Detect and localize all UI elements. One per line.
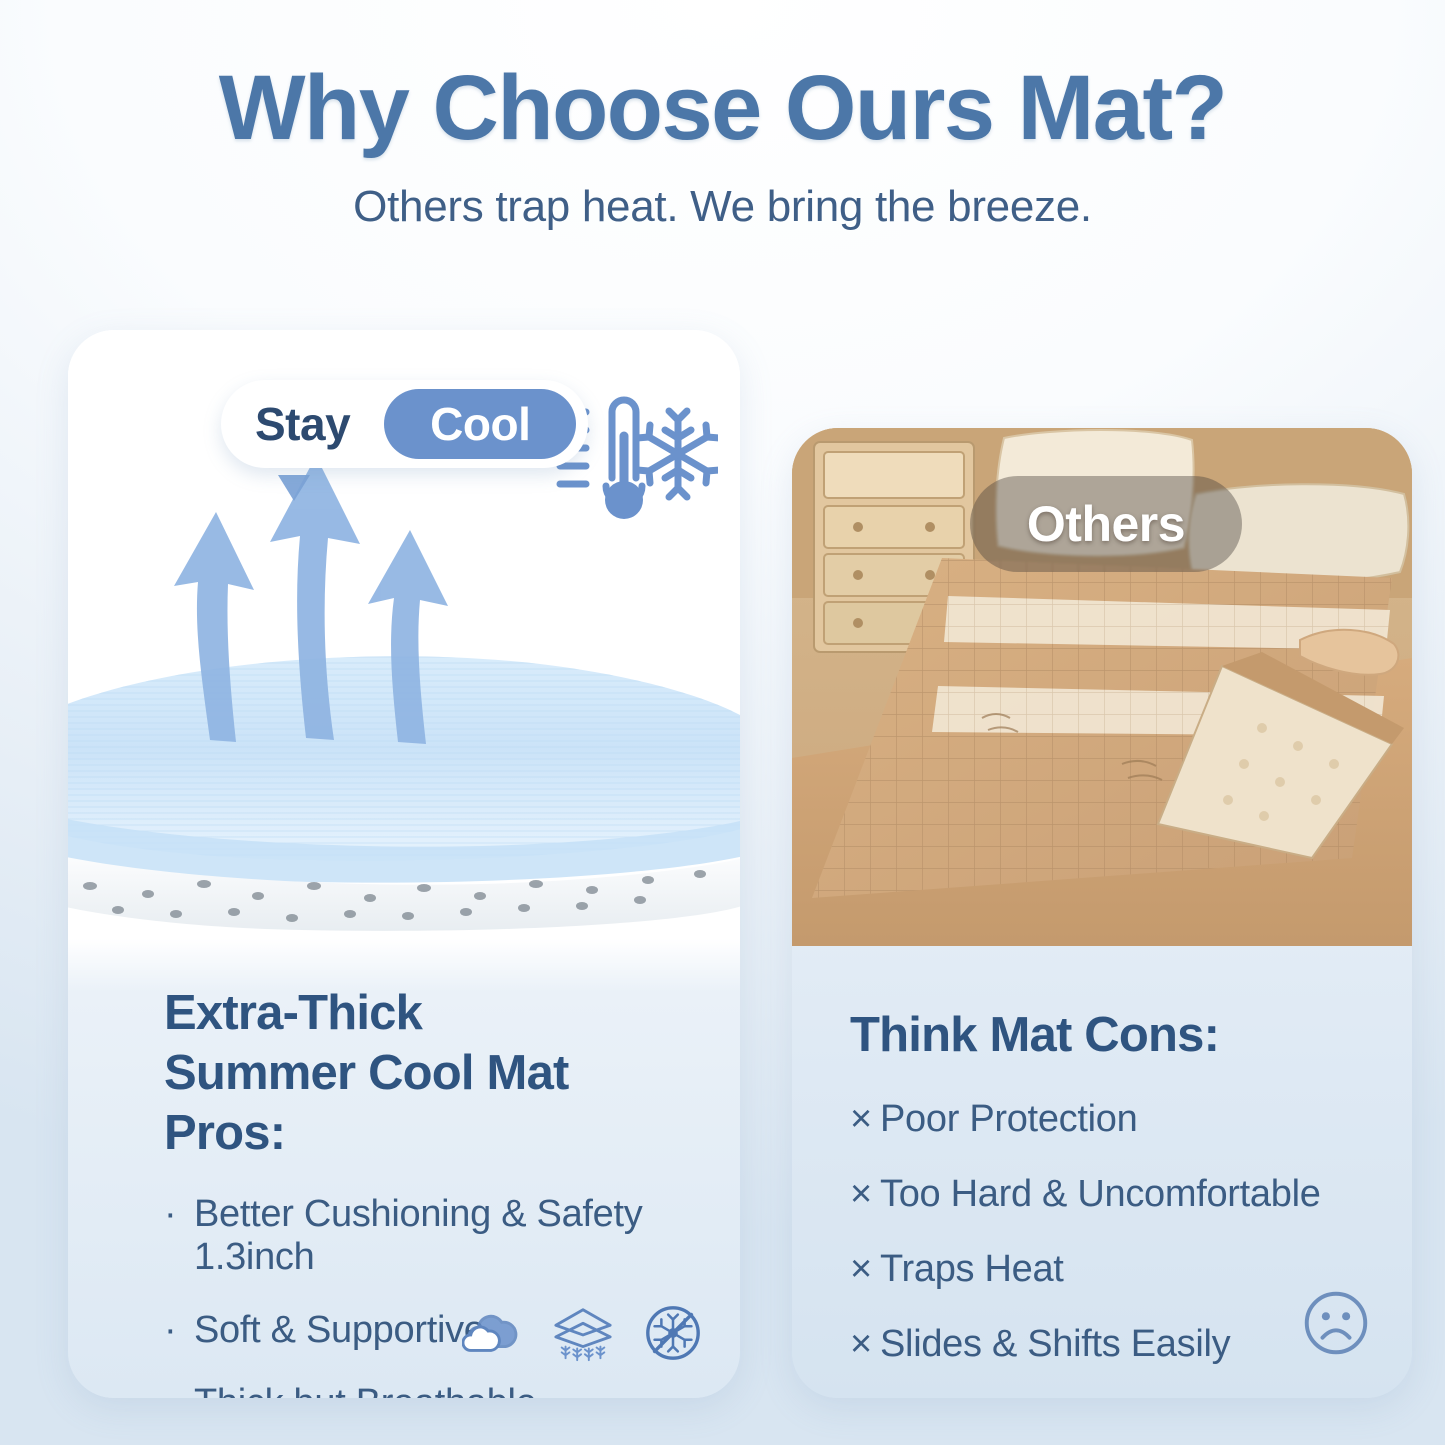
list-item: × Too Hard & Uncomfortable bbox=[850, 1173, 1382, 1216]
others-mat-body: Think Mat Cons: × Poor Protection × Too … bbox=[792, 946, 1412, 1398]
others-mat-photo: Others bbox=[792, 428, 1412, 946]
pros-bullet-marker: · bbox=[164, 1309, 194, 1352]
cons-item-text: Slides & Shifts Easily bbox=[880, 1323, 1230, 1366]
badge-cool-label: Cool bbox=[384, 389, 576, 459]
header: Why Choose Ours Mat? Others trap heat. W… bbox=[0, 62, 1445, 232]
anti-bacterial-icon bbox=[642, 1302, 704, 1364]
infographic-page: Why Choose Ours Mat? Others trap heat. W… bbox=[0, 0, 1445, 1445]
pros-bullet-marker: · bbox=[164, 1193, 194, 1236]
badge-pointer bbox=[278, 475, 310, 501]
cons-bullet-marker: × bbox=[850, 1173, 880, 1216]
cloud-soft-icon bbox=[462, 1302, 524, 1364]
feature-icon-row bbox=[462, 1302, 704, 1364]
ours-mat-card: Stay Cool Extra-Thick Summer Cool Mat Pr… bbox=[68, 330, 740, 1398]
pros-heading-line2: Summer Cool Mat Pros: bbox=[164, 1044, 700, 1164]
list-item: · Better Cushioning & Safety 1.3inch bbox=[164, 1193, 700, 1279]
list-item: × Poor Protection bbox=[850, 1098, 1382, 1141]
cons-heading: Think Mat Cons: bbox=[850, 1006, 1382, 1066]
page-subtitle: Others trap heat. We bring the breeze. bbox=[0, 182, 1445, 232]
cons-item-text: Poor Protection bbox=[880, 1098, 1137, 1141]
page-title: Why Choose Ours Mat? bbox=[0, 62, 1445, 156]
ours-mat-photo: Stay Cool bbox=[68, 330, 740, 938]
pros-bullet-marker: · bbox=[164, 1382, 194, 1398]
others-overlay-label: Others bbox=[1027, 495, 1185, 553]
cons-bullet-marker: × bbox=[850, 1098, 880, 1141]
list-item: × Traps Heat bbox=[850, 1248, 1382, 1291]
ours-mat-body: Extra-Thick Summer Cool Mat Pros: · Bett… bbox=[68, 938, 740, 1398]
status-icon-wrap bbox=[1300, 1287, 1372, 1364]
list-item: · Thick but Breathable bbox=[164, 1382, 700, 1398]
airflow-arrows-icon bbox=[158, 450, 488, 750]
breathable-layers-icon bbox=[552, 1302, 614, 1364]
cons-bullet-marker: × bbox=[850, 1248, 880, 1291]
pros-item-text: Thick but Breathable bbox=[194, 1382, 537, 1398]
stay-cool-badge[interactable]: Stay Cool bbox=[221, 380, 588, 468]
cons-item-text: Too Hard & Uncomfortable bbox=[880, 1173, 1321, 1216]
cons-item-text: Traps Heat bbox=[880, 1248, 1064, 1291]
pros-heading: Extra-Thick Summer Cool Mat Pros: bbox=[164, 984, 700, 1163]
pros-item-text: Soft & Supportive bbox=[194, 1309, 485, 1352]
cons-bullet-marker: × bbox=[850, 1323, 880, 1366]
pros-item-text: Better Cushioning & Safety 1.3inch bbox=[194, 1193, 700, 1279]
sad-face-icon bbox=[1300, 1287, 1372, 1359]
pros-list: · Better Cushioning & Safety 1.3inch · S… bbox=[164, 1193, 700, 1398]
others-mat-card: Others Think Mat Cons: × Poor Protection… bbox=[792, 428, 1412, 1398]
badge-stay-label: Stay bbox=[255, 397, 350, 451]
pros-heading-line1: Extra-Thick bbox=[164, 986, 422, 1040]
others-overlay-badge: Others bbox=[970, 476, 1242, 572]
